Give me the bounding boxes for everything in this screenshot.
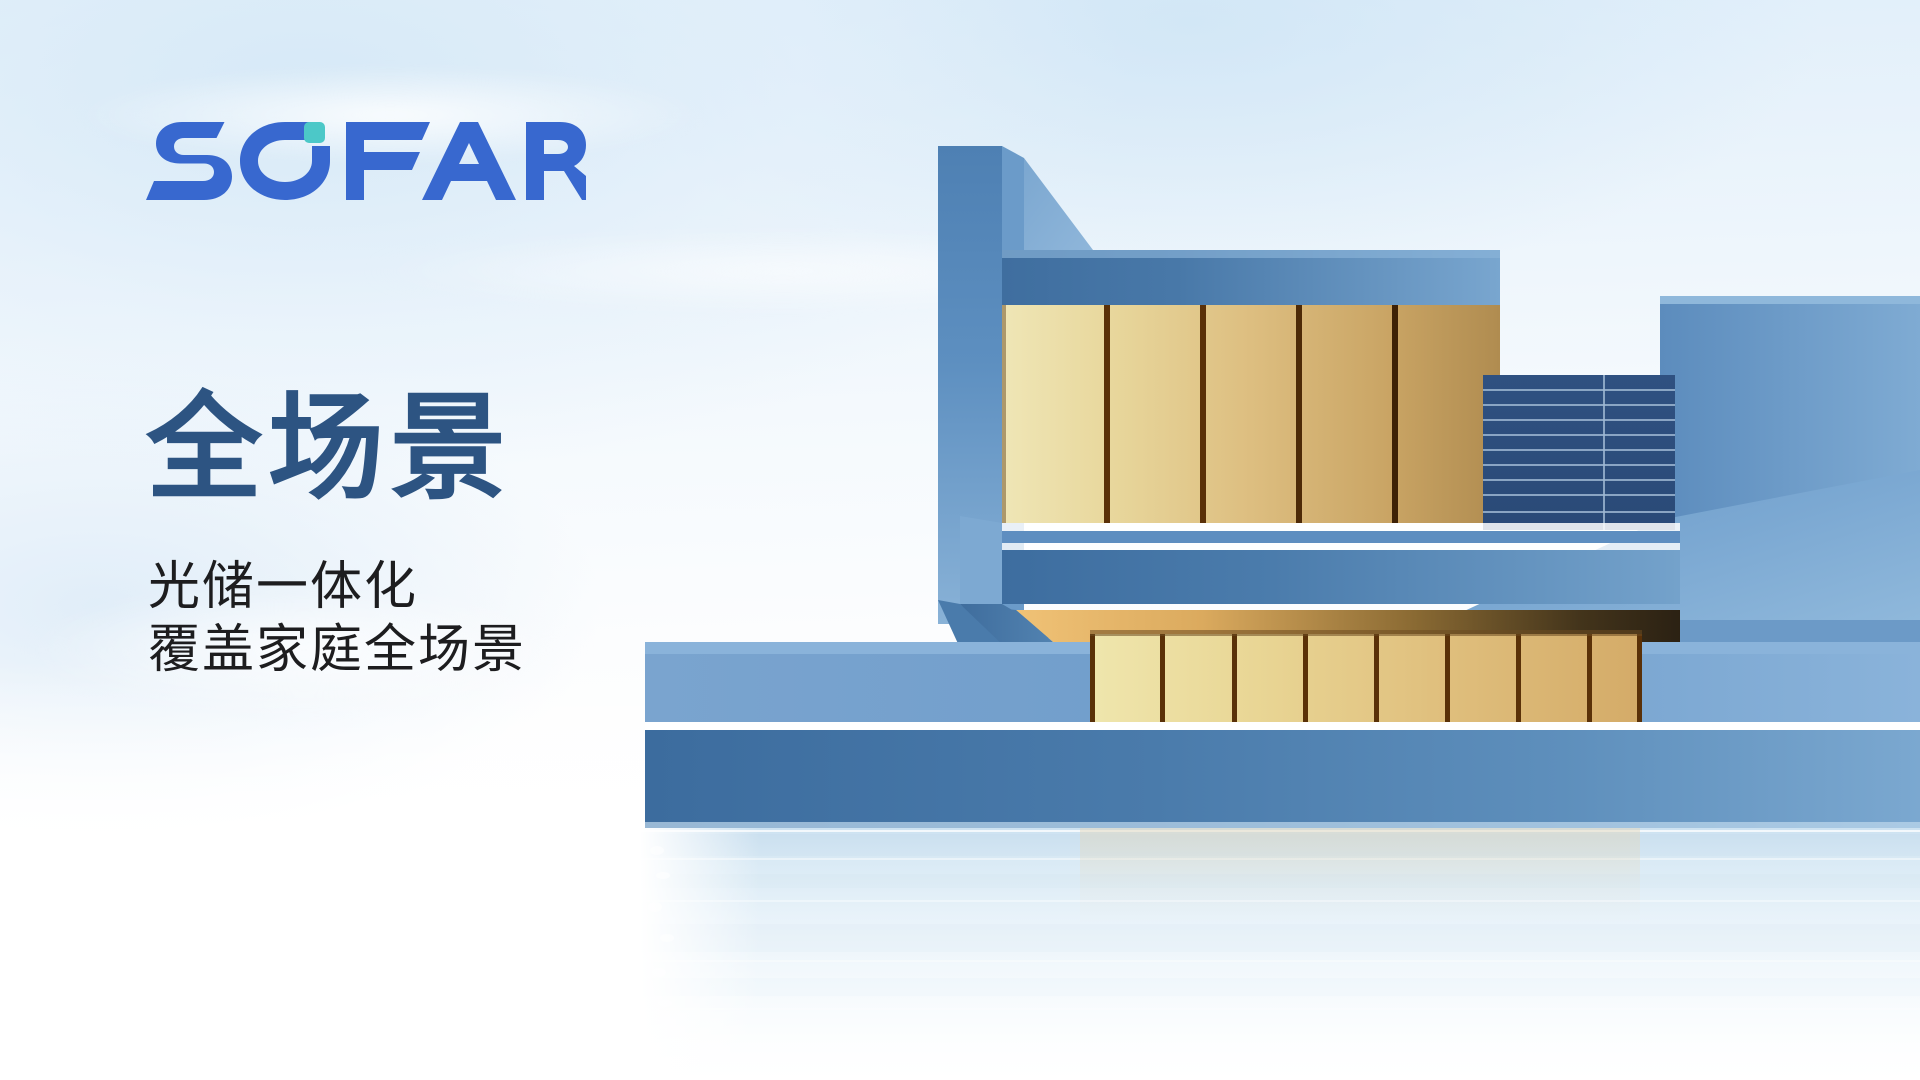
lower-glass-strip xyxy=(1090,630,1642,722)
hero-text-block: 全场景 光储一体化 覆盖家庭全场景 xyxy=(146,118,786,204)
mullion xyxy=(1392,305,1398,523)
subtitle-line-1: 光储一体化 xyxy=(148,556,526,619)
subtitle-line-2: 覆盖家庭全场景 xyxy=(148,619,526,682)
mullion xyxy=(1296,305,1302,523)
sofar-logo xyxy=(146,118,586,204)
upper-canopy xyxy=(1002,250,1500,305)
mullion xyxy=(1104,305,1110,523)
promo-banner: 全场景 光储一体化 覆盖家庭全场景 xyxy=(0,0,1920,1080)
mullion xyxy=(1200,305,1206,523)
sofar-wordmark-icon xyxy=(146,122,586,200)
sofar-accent-dot-icon xyxy=(304,122,325,143)
solar-panel-array xyxy=(1483,375,1675,530)
podium-front-face xyxy=(645,722,1920,828)
upper-glass-facade xyxy=(1002,305,1500,523)
subtitle: 光储一体化 覆盖家庭全场景 xyxy=(148,556,526,683)
water-reflection xyxy=(640,828,1920,1080)
page-title: 全场景 xyxy=(146,390,512,506)
